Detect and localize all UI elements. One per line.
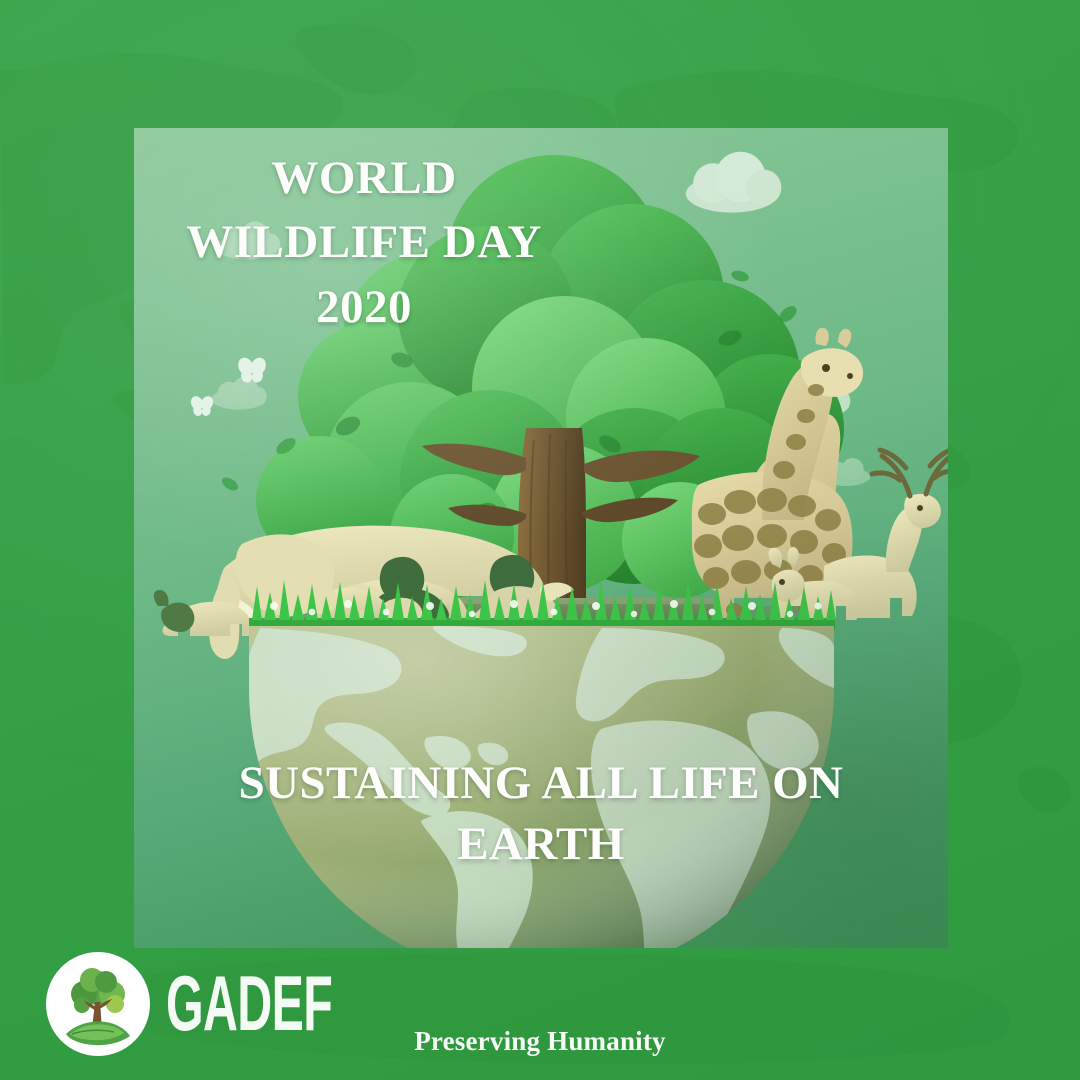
headline-line-1: WORLD [154,146,574,210]
headline-line-2: WILDLIFE DAY [154,210,574,274]
poster-canvas: WORLD WILDLIFE DAY 2020 SUSTAINING ALL L… [0,0,1080,1080]
artwork-panel: WORLD WILDLIFE DAY 2020 SUSTAINING ALL L… [134,128,948,948]
poster-tagline: SUSTAINING ALL LIFE ON EARTH [184,753,898,875]
headline: WORLD WILDLIFE DAY 2020 [154,146,574,339]
tagline-line-1: SUSTAINING ALL LIFE ON [184,753,898,814]
tagline-line-2: EARTH [184,814,898,875]
footer-tagline: Preserving Humanity [0,1026,1080,1057]
headline-line-3: 2020 [154,275,574,339]
